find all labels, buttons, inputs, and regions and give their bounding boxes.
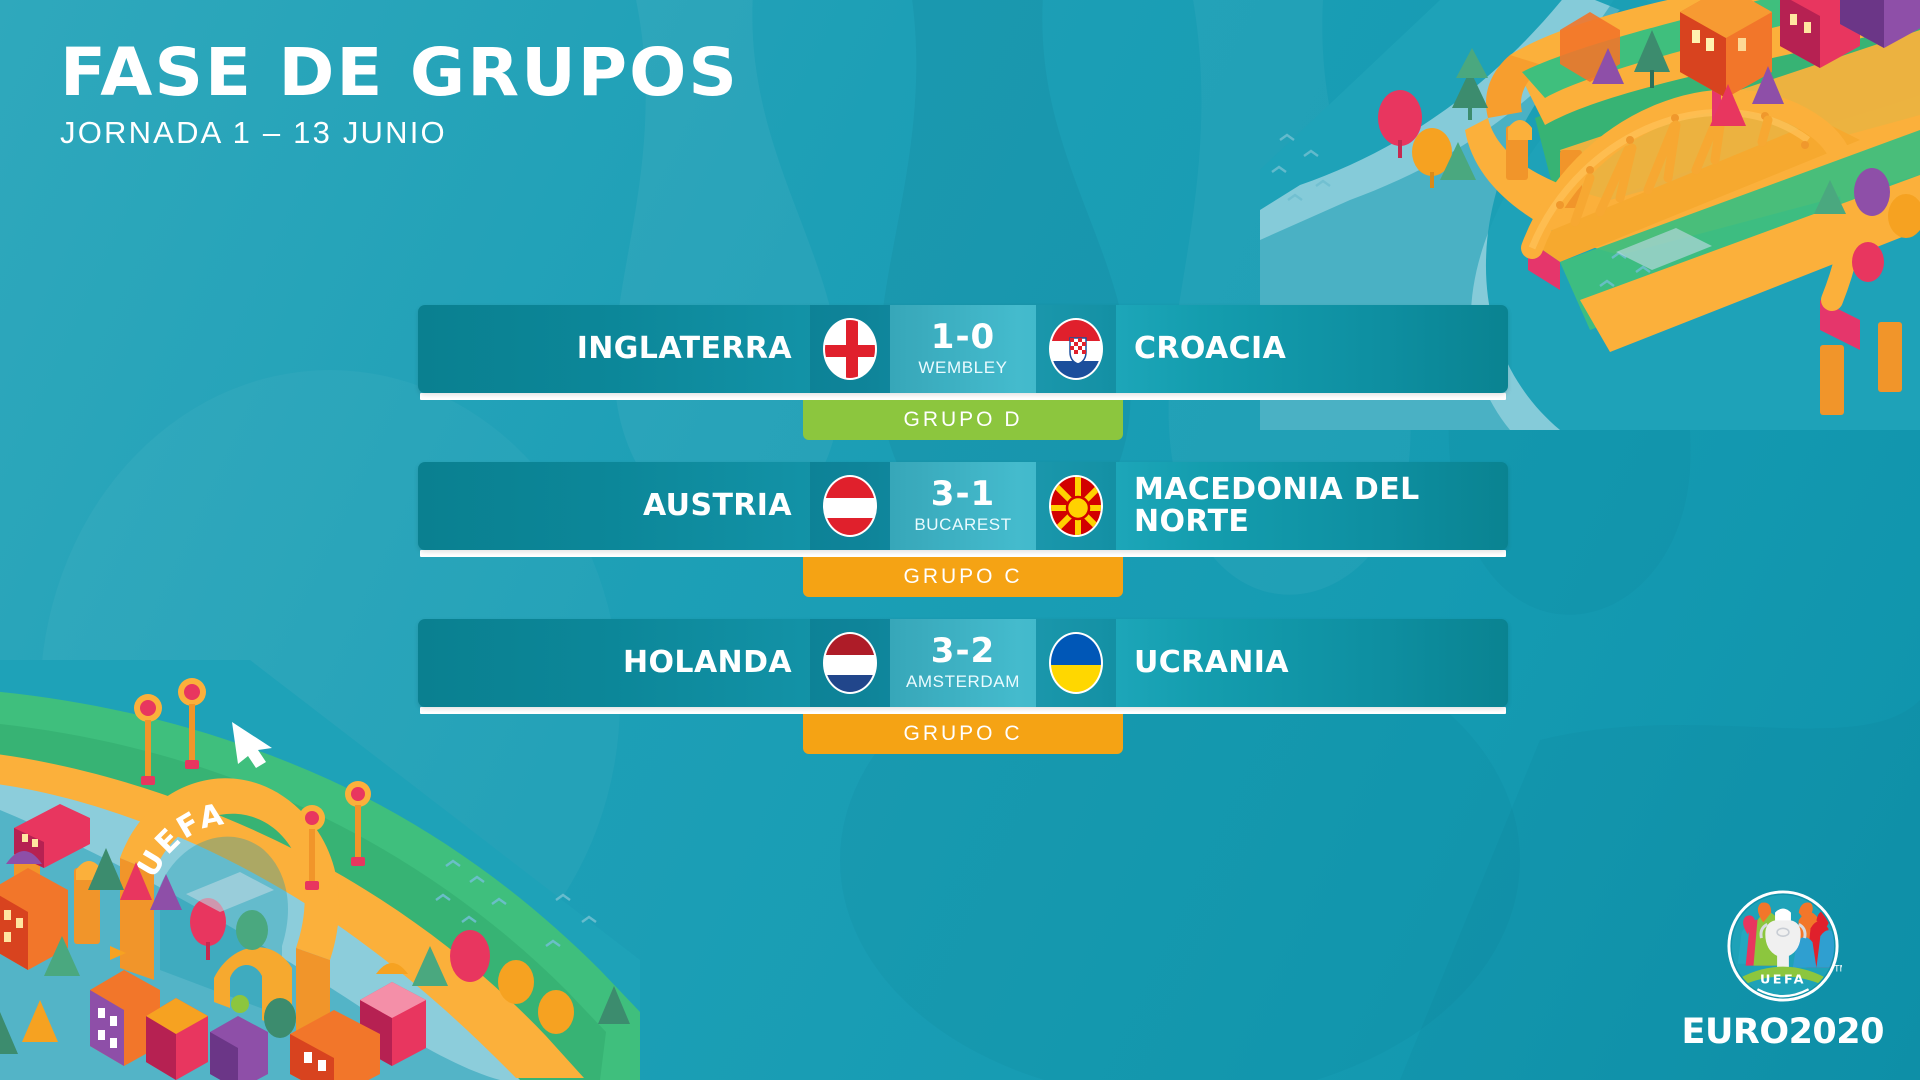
match-list: INGLATERRA 1-0 WEMBLEY [418,305,1508,776]
away-team-name: UCRANIA [1134,647,1289,679]
score-cell: 3-1 BUCAREST [890,462,1036,550]
group-label: GRUPO C [903,565,1022,589]
match-block: INGLATERRA 1-0 WEMBLEY [418,305,1508,440]
group-badge[interactable]: GRUPO C [803,557,1123,597]
poster-canvas: UEFA [0,0,1920,1080]
away-team: CROACIA [1116,305,1508,393]
match-block: HOLANDA 3-2 AMSTERDAM [418,619,1508,754]
match-block: AUSTRIA 3-1 BUCAREST [418,462,1508,597]
home-team: AUSTRIA [418,462,810,550]
netherlands-flag [823,632,877,694]
home-flag-cell [810,619,890,707]
row-underline [420,707,1506,714]
header: FASE DE GRUPOS JORNADA 1 – 13 JUNIO [60,38,726,151]
away-team-name: CROACIA [1134,333,1286,365]
home-team-name: INGLATERRA [577,333,792,365]
home-team: HOLANDA [418,619,810,707]
home-team-name: AUSTRIA [643,490,792,522]
match-venue: BUCAREST [914,515,1011,535]
ukraine-flag [1049,632,1103,694]
match-score: 1-0 [931,320,995,354]
group-label: GRUPO C [903,722,1022,746]
home-team-name: HOLANDA [623,647,792,679]
away-flag-cell [1036,462,1116,550]
match-row[interactable]: AUSTRIA 3-1 BUCAREST [418,462,1508,550]
euro-2020-logo-mark: UEFA TM [1724,887,1842,1005]
match-row[interactable]: INGLATERRA 1-0 WEMBLEY [418,305,1508,393]
row-underline [420,550,1506,557]
croatia-flag [1049,318,1103,380]
match-score: 3-1 [931,477,995,511]
uefa-euro-2020-logo: UEFA TM EURO2020 [1682,887,1884,1052]
uefa-logo-text: UEFA [1760,972,1806,987]
away-team: UCRANIA [1116,619,1508,707]
home-flag-cell [810,305,890,393]
match-venue: WEMBLEY [918,358,1007,378]
group-label: GRUPO D [903,408,1022,432]
score-cell: 1-0 WEMBLEY [890,305,1036,393]
group-badge[interactable]: GRUPO D [803,400,1123,440]
home-flag-cell [810,462,890,550]
match-score: 3-2 [931,634,995,668]
score-cell: 3-2 AMSTERDAM [890,619,1036,707]
page-title: FASE DE GRUPOS [60,38,739,107]
match-row[interactable]: HOLANDA 3-2 AMSTERDAM [418,619,1508,707]
page-subtitle: JORNADA 1 – 13 JUNIO [60,115,726,151]
row-underline [420,393,1506,400]
group-badge[interactable]: GRUPO C [803,714,1123,754]
match-venue: AMSTERDAM [906,672,1020,692]
trademark-symbol: TM [1833,965,1842,975]
away-flag-cell [1036,305,1116,393]
austria-flag [823,475,877,537]
away-team-name: MACEDONIA DEL NORTE [1134,474,1420,539]
away-team: MACEDONIA DEL NORTE [1116,462,1508,550]
north-macedonia-flag [1049,475,1103,537]
euro-2020-wordmark: EURO2020 [1682,1012,1884,1052]
england-flag [823,318,877,380]
away-flag-cell [1036,619,1116,707]
home-team: INGLATERRA [418,305,810,393]
